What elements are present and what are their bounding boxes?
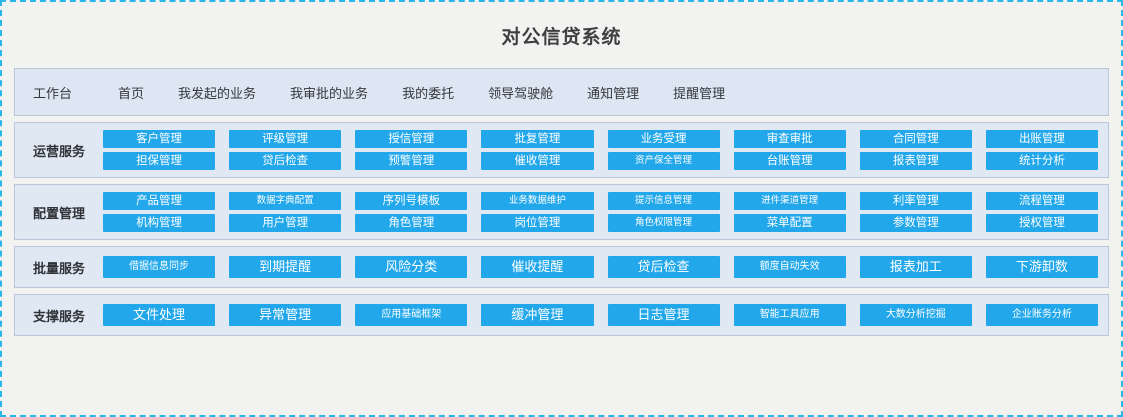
tile-button[interactable]: 贷后检查 — [229, 152, 341, 170]
band-label-1: 配置管理 — [15, 203, 103, 222]
band-panel-3: 支撑服务文件处理异常管理应用基础框架缓冲管理日志管理智能工具应用大数分析挖掘企业… — [14, 294, 1109, 336]
page-title: 对公信贷系统 — [501, 22, 621, 49]
tile-button[interactable]: 异常管理 — [229, 304, 341, 326]
band-0: 运营服务客户管理评级管理授信管理批复管理业务受理审查审批合同管理出账管理担保管理… — [15, 123, 1108, 177]
tile-button[interactable]: 出账管理 — [986, 130, 1098, 148]
tile-button[interactable]: 台账管理 — [734, 152, 846, 170]
tile-button[interactable]: 合同管理 — [860, 130, 972, 148]
band-grid-2: 借据信息同步到期提醒风险分类催收提醒贷后检查额度自动失效报表加工下游卸数 — [103, 256, 1098, 278]
tile-button[interactable]: 岗位管理 — [481, 214, 593, 232]
band-panel-0: 运营服务客户管理评级管理授信管理批复管理业务受理审查审批合同管理出账管理担保管理… — [14, 122, 1109, 178]
band-panel-2: 批量服务借据信息同步到期提醒风险分类催收提醒贷后检查额度自动失效报表加工下游卸数 — [14, 246, 1109, 288]
tile-button[interactable]: 机构管理 — [103, 214, 215, 232]
tile-button[interactable]: 角色权限管理 — [608, 214, 720, 232]
nav-item-1[interactable]: 首页 — [118, 83, 144, 102]
tile-button[interactable]: 进件渠道管理 — [734, 192, 846, 210]
tile-button[interactable]: 客户管理 — [103, 130, 215, 148]
tile-button[interactable]: 日志管理 — [608, 304, 720, 326]
band-1: 配置管理产品管理数据字典配置序列号模板业务数据维护提示信息管理进件渠道管理利率管… — [15, 185, 1108, 239]
band-label-3: 支撑服务 — [15, 306, 103, 325]
band-grid-3: 文件处理异常管理应用基础框架缓冲管理日志管理智能工具应用大数分析挖掘企业账务分析 — [103, 304, 1098, 326]
tile-button[interactable]: 担保管理 — [103, 152, 215, 170]
tile-button[interactable]: 授信管理 — [355, 130, 467, 148]
tile-button[interactable]: 风险分类 — [355, 256, 467, 278]
nav-item-4[interactable]: 我的委托 — [402, 83, 454, 102]
tile-button[interactable]: 授权管理 — [986, 214, 1098, 232]
tile-button[interactable]: 业务受理 — [608, 130, 720, 148]
nav-item-7[interactable]: 提醒管理 — [673, 83, 725, 102]
tile-button[interactable]: 下游卸数 — [986, 256, 1098, 278]
tile-button[interactable]: 借据信息同步 — [103, 256, 215, 278]
tile-button[interactable]: 催收管理 — [481, 152, 593, 170]
nav-item-0[interactable]: 工作台 — [33, 83, 72, 102]
tile-button[interactable]: 应用基础框架 — [355, 304, 467, 326]
band-label-0: 运营服务 — [15, 141, 103, 160]
tile-button[interactable]: 评级管理 — [229, 130, 341, 148]
band-2: 批量服务借据信息同步到期提醒风险分类催收提醒贷后检查额度自动失效报表加工下游卸数 — [15, 247, 1108, 287]
tile-button[interactable]: 大数分析挖掘 — [860, 304, 972, 326]
top-nav: 工作台首页我发起的业务我审批的业务我的委托领导驾驶舱通知管理提醒管理 — [15, 69, 1108, 115]
tile-button[interactable]: 数据字典配置 — [229, 192, 341, 210]
title-bar: 对公信贷系统 — [2, 2, 1121, 68]
tile-button[interactable]: 用户管理 — [229, 214, 341, 232]
nav-item-5[interactable]: 领导驾驶舱 — [488, 83, 553, 102]
band-3: 支撑服务文件处理异常管理应用基础框架缓冲管理日志管理智能工具应用大数分析挖掘企业… — [15, 295, 1108, 335]
top-nav-panel: 工作台首页我发起的业务我审批的业务我的委托领导驾驶舱通知管理提醒管理 — [14, 68, 1109, 116]
tile-button[interactable]: 到期提醒 — [229, 256, 341, 278]
tile-button[interactable]: 角色管理 — [355, 214, 467, 232]
band-panel-1: 配置管理产品管理数据字典配置序列号模板业务数据维护提示信息管理进件渠道管理利率管… — [14, 184, 1109, 240]
tile-button[interactable]: 贷后检查 — [608, 256, 720, 278]
tile-button[interactable]: 利率管理 — [860, 192, 972, 210]
tile-button[interactable]: 缓冲管理 — [481, 304, 593, 326]
tile-button[interactable]: 审查审批 — [734, 130, 846, 148]
tile-button[interactable]: 产品管理 — [103, 192, 215, 210]
band-grid-1: 产品管理数据字典配置序列号模板业务数据维护提示信息管理进件渠道管理利率管理流程管… — [103, 192, 1098, 232]
tile-button[interactable]: 批复管理 — [481, 130, 593, 148]
tile-button[interactable]: 智能工具应用 — [734, 304, 846, 326]
nav-item-6[interactable]: 通知管理 — [587, 83, 639, 102]
tile-button[interactable]: 提示信息管理 — [608, 192, 720, 210]
tile-button[interactable]: 企业账务分析 — [986, 304, 1098, 326]
tile-button[interactable]: 流程管理 — [986, 192, 1098, 210]
tile-button[interactable]: 报表加工 — [860, 256, 972, 278]
tile-button[interactable]: 资产保全管理 — [608, 152, 720, 170]
tile-button[interactable]: 菜单配置 — [734, 214, 846, 232]
tile-button[interactable]: 催收提醒 — [481, 256, 593, 278]
page-root: 对公信贷系统 工作台首页我发起的业务我审批的业务我的委托领导驾驶舱通知管理提醒管… — [0, 0, 1123, 417]
nav-item-2[interactable]: 我发起的业务 — [178, 83, 256, 102]
service-bands: 运营服务客户管理评级管理授信管理批复管理业务受理审查审批合同管理出账管理担保管理… — [2, 122, 1121, 336]
band-grid-0: 客户管理评级管理授信管理批复管理业务受理审查审批合同管理出账管理担保管理贷后检查… — [103, 130, 1098, 170]
band-label-2: 批量服务 — [15, 258, 103, 277]
tile-button[interactable]: 参数管理 — [860, 214, 972, 232]
tile-button[interactable]: 额度自动失效 — [734, 256, 846, 278]
nav-item-3[interactable]: 我审批的业务 — [290, 83, 368, 102]
tile-button[interactable]: 业务数据维护 — [481, 192, 593, 210]
tile-button[interactable]: 文件处理 — [103, 304, 215, 326]
tile-button[interactable]: 统计分析 — [986, 152, 1098, 170]
tile-button[interactable]: 预警管理 — [355, 152, 467, 170]
tile-button[interactable]: 报表管理 — [860, 152, 972, 170]
tile-button[interactable]: 序列号模板 — [355, 192, 467, 210]
